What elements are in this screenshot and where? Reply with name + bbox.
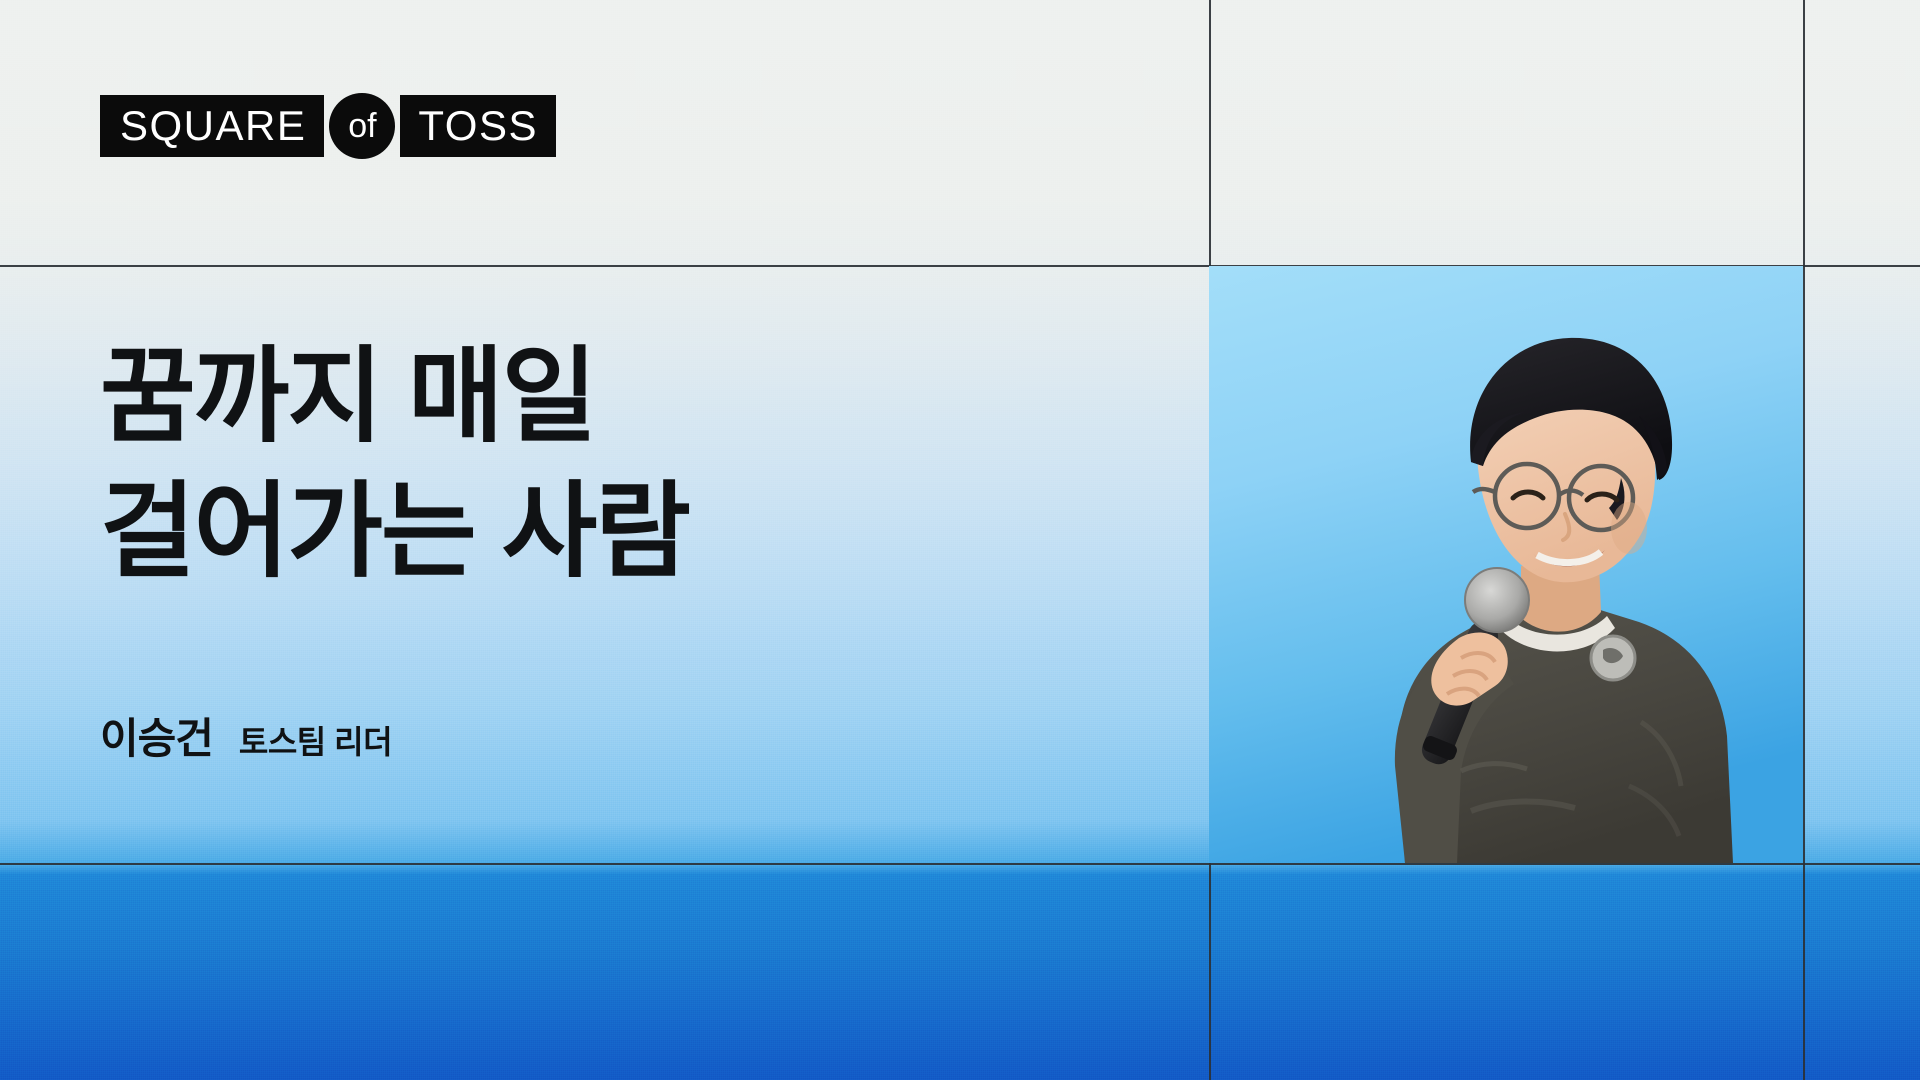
logo-of-badge: of — [329, 93, 395, 159]
title-slide: SQUARE of TOSS 꿈까지 매일 걸어가는 사람 이승건 토스팀 리더 — [0, 0, 1920, 1080]
page-title-line-2: 걸어가는 사람 — [100, 465, 689, 600]
speaker-name: 이승건 — [100, 705, 213, 766]
speaker-role: 토스팀 리더 — [239, 717, 392, 763]
speaker-photo — [1209, 266, 1803, 863]
speaker-credit: 이승건 토스팀 리더 — [100, 705, 392, 766]
grid-line-vertical-right — [1803, 0, 1805, 1080]
logo-square-text: SQUARE — [100, 95, 324, 157]
brand-logo[interactable]: SQUARE of TOSS — [100, 95, 556, 157]
logo-toss-text: TOSS — [400, 95, 556, 157]
page-title: 꿈까지 매일 걸어가는 사람 — [100, 330, 689, 600]
grid-line-horizontal-bottom — [0, 863, 1920, 865]
speaker-portrait-illustration — [1209, 266, 1803, 863]
page-title-line-1: 꿈까지 매일 — [100, 330, 689, 465]
